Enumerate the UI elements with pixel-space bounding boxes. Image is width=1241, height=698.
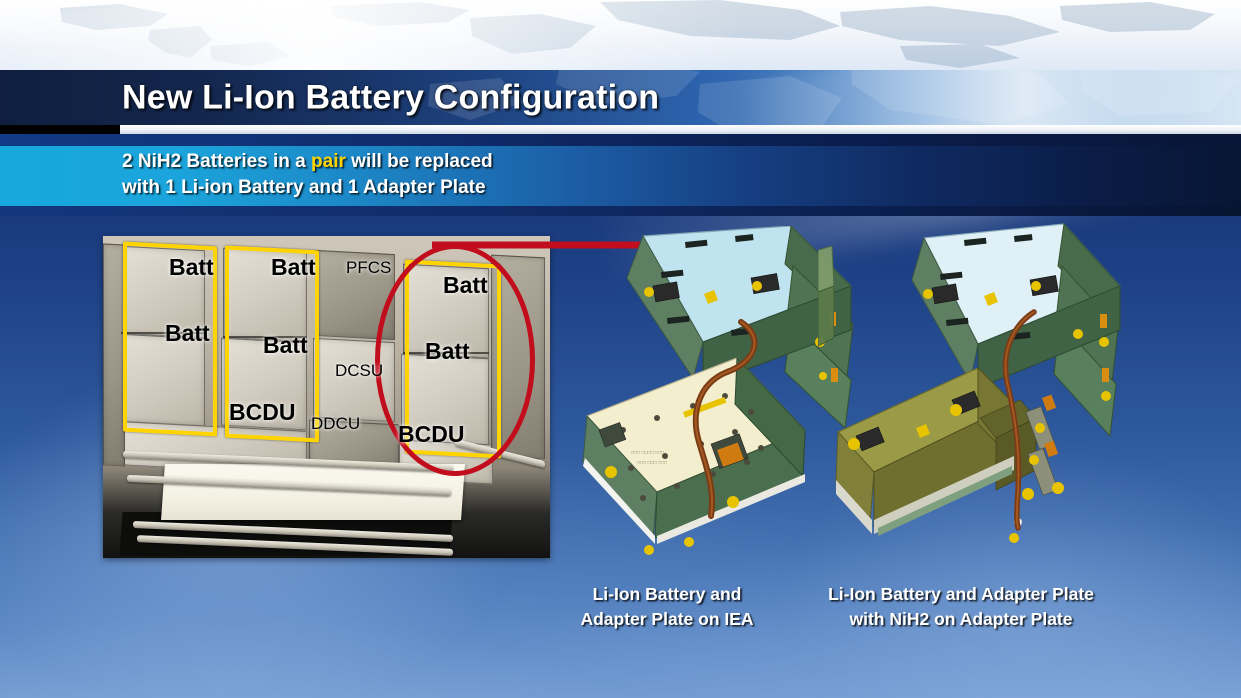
subtitle-line1-pre: 2 NiH2 Batteries in a [122,151,311,172]
accent-white-segment [120,125,1241,134]
photo-label-batt: Batt [263,332,308,359]
page-title: New Li-Ion Battery Configuration [122,78,659,117]
photo-label-batt: Batt [169,254,214,281]
subtitle-text: 2 NiH2 Batteries in a pair will be repla… [122,149,493,201]
photo-label-ddcu: DDCU [311,414,360,434]
iea-truss-photo: Batt Batt Batt Batt Batt Batt PFCS DCSU … [103,236,550,558]
header-shine [0,0,749,70]
photo-label-pfcs: PFCS [346,258,391,278]
caption-right: Li-Ion Battery and Adapter Plate with Ni… [790,582,1132,632]
svg-text:□□□ □□□ □□□: □□□ □□□ □□□ [637,460,667,466]
subtitle-line1-post: will be replaced [346,151,493,172]
title-bar-shine [739,70,1241,125]
truss-structure [103,243,125,466]
photo-label-batt: Batt [443,272,488,299]
photo-label-bcdu: BCDU [398,421,464,448]
svg-text:□□□ □□□□ □□□: □□□ □□□□ □□□ [631,450,664,456]
subtitle-band-underline [0,206,1241,216]
photo-label-dcsu: DCSU [335,361,383,381]
cad-render-partial-edge [818,246,834,356]
caption-right-line-1: Li-Ion Battery and Adapter Plate [790,582,1132,607]
photo-label-batt: Batt [425,338,470,365]
caption-left-line-2: Adapter Plate on IEA [552,607,782,632]
title-accent-rule [0,125,1241,134]
cad-render-li-ion-with-nih2 [828,222,1128,574]
navy-divider-strip [0,134,1241,146]
photo-label-bcdu: BCDU [229,399,295,426]
subtitle-line-1: 2 NiH2 Batteries in a pair will be repla… [122,149,493,175]
slide-root: New Li-Ion Battery Configuration 2 NiH2 … [0,0,1241,698]
accent-black-segment [0,125,120,134]
caption-right-line-2: with NiH2 on Adapter Plate [790,607,1132,632]
subtitle-highlight-word: pair [311,151,346,172]
caption-left: Li-Ion Battery and Adapter Plate on IEA [552,582,782,632]
title-bar: New Li-Ion Battery Configuration [0,70,1241,125]
caption-left-line-1: Li-Ion Battery and [552,582,782,607]
photo-label-batt: Batt [165,320,210,347]
subtitle-line-2: with 1 Li-ion Battery and 1 Adapter Plat… [122,175,493,201]
header-sky-band [0,0,1241,70]
photo-label-batt: Batt [271,254,316,281]
